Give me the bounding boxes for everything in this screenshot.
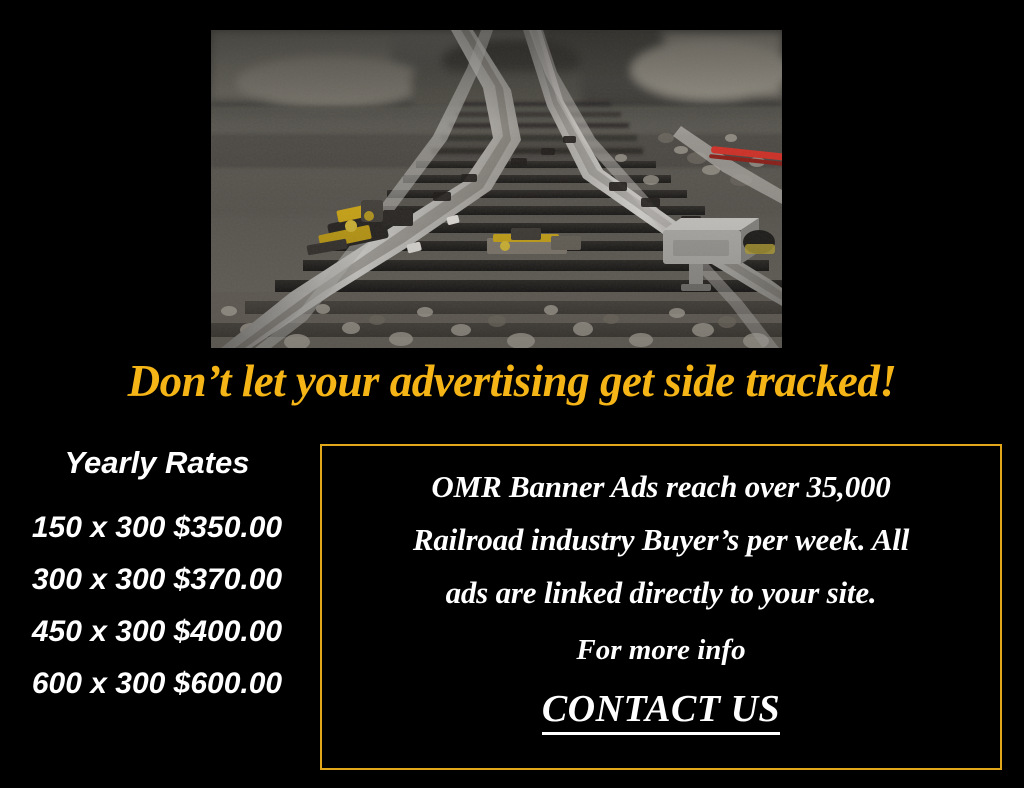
info-box: OMR Banner Ads reach over 35,000 Railroa… [320, 444, 1002, 770]
info-body-line: Railroad industry Buyer’s per week. All [340, 513, 982, 566]
headline: Don’t let your advertising get side trac… [0, 358, 1024, 405]
info-body: OMR Banner Ads reach over 35,000 Railroa… [340, 460, 982, 619]
info-body-line: OMR Banner Ads reach over 35,000 [340, 460, 982, 513]
rates-title: Yearly Rates [4, 446, 310, 480]
railroad-tracks-illustration [211, 30, 782, 348]
advertisement-root: Don’t let your advertising get side trac… [0, 0, 1024, 788]
rate-row: 450 x 300 $400.00 [4, 606, 310, 658]
contact-us-label: CONTACT US [542, 688, 780, 735]
rate-row: 150 x 300 $350.00 [4, 502, 310, 554]
rate-row: 300 x 300 $370.00 [4, 554, 310, 606]
yearly-rates-column: Yearly Rates 150 x 300 $350.00 300 x 300… [4, 446, 310, 710]
contact-us-link[interactable]: CONTACT US [340, 687, 982, 731]
railroad-tracks-photo [211, 30, 782, 348]
info-body-line: ads are linked directly to your site. [340, 566, 982, 619]
more-info-label: For more info [340, 635, 982, 667]
rate-row: 600 x 300 $600.00 [4, 658, 310, 710]
